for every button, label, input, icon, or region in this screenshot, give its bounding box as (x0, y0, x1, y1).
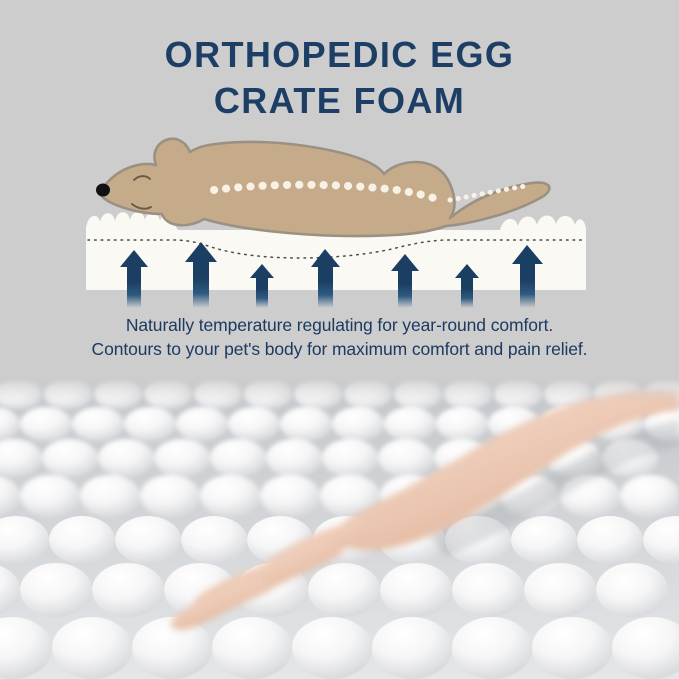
dog-on-foam-diagram (0, 118, 679, 308)
page-title: ORTHOPEDIC EGG CRATE FOAM (0, 32, 679, 124)
feature-description: Naturally temperature regulating for yea… (0, 313, 679, 361)
egg-crate-foam-photo (0, 380, 679, 679)
foam-photo-panel (0, 380, 679, 679)
headline-line-1: ORTHOPEDIC EGG (0, 32, 679, 78)
dog-nose-icon (96, 184, 110, 197)
subcopy-line-1: Naturally temperature regulating for yea… (0, 313, 679, 337)
product-feature-graphic: ORTHOPEDIC EGG CRATE FOAM (0, 0, 679, 679)
photo-top-fade (0, 380, 679, 402)
subcopy-line-2: Contours to your pet's body for maximum … (0, 337, 679, 361)
infographic-panel: ORTHOPEDIC EGG CRATE FOAM (0, 0, 679, 380)
